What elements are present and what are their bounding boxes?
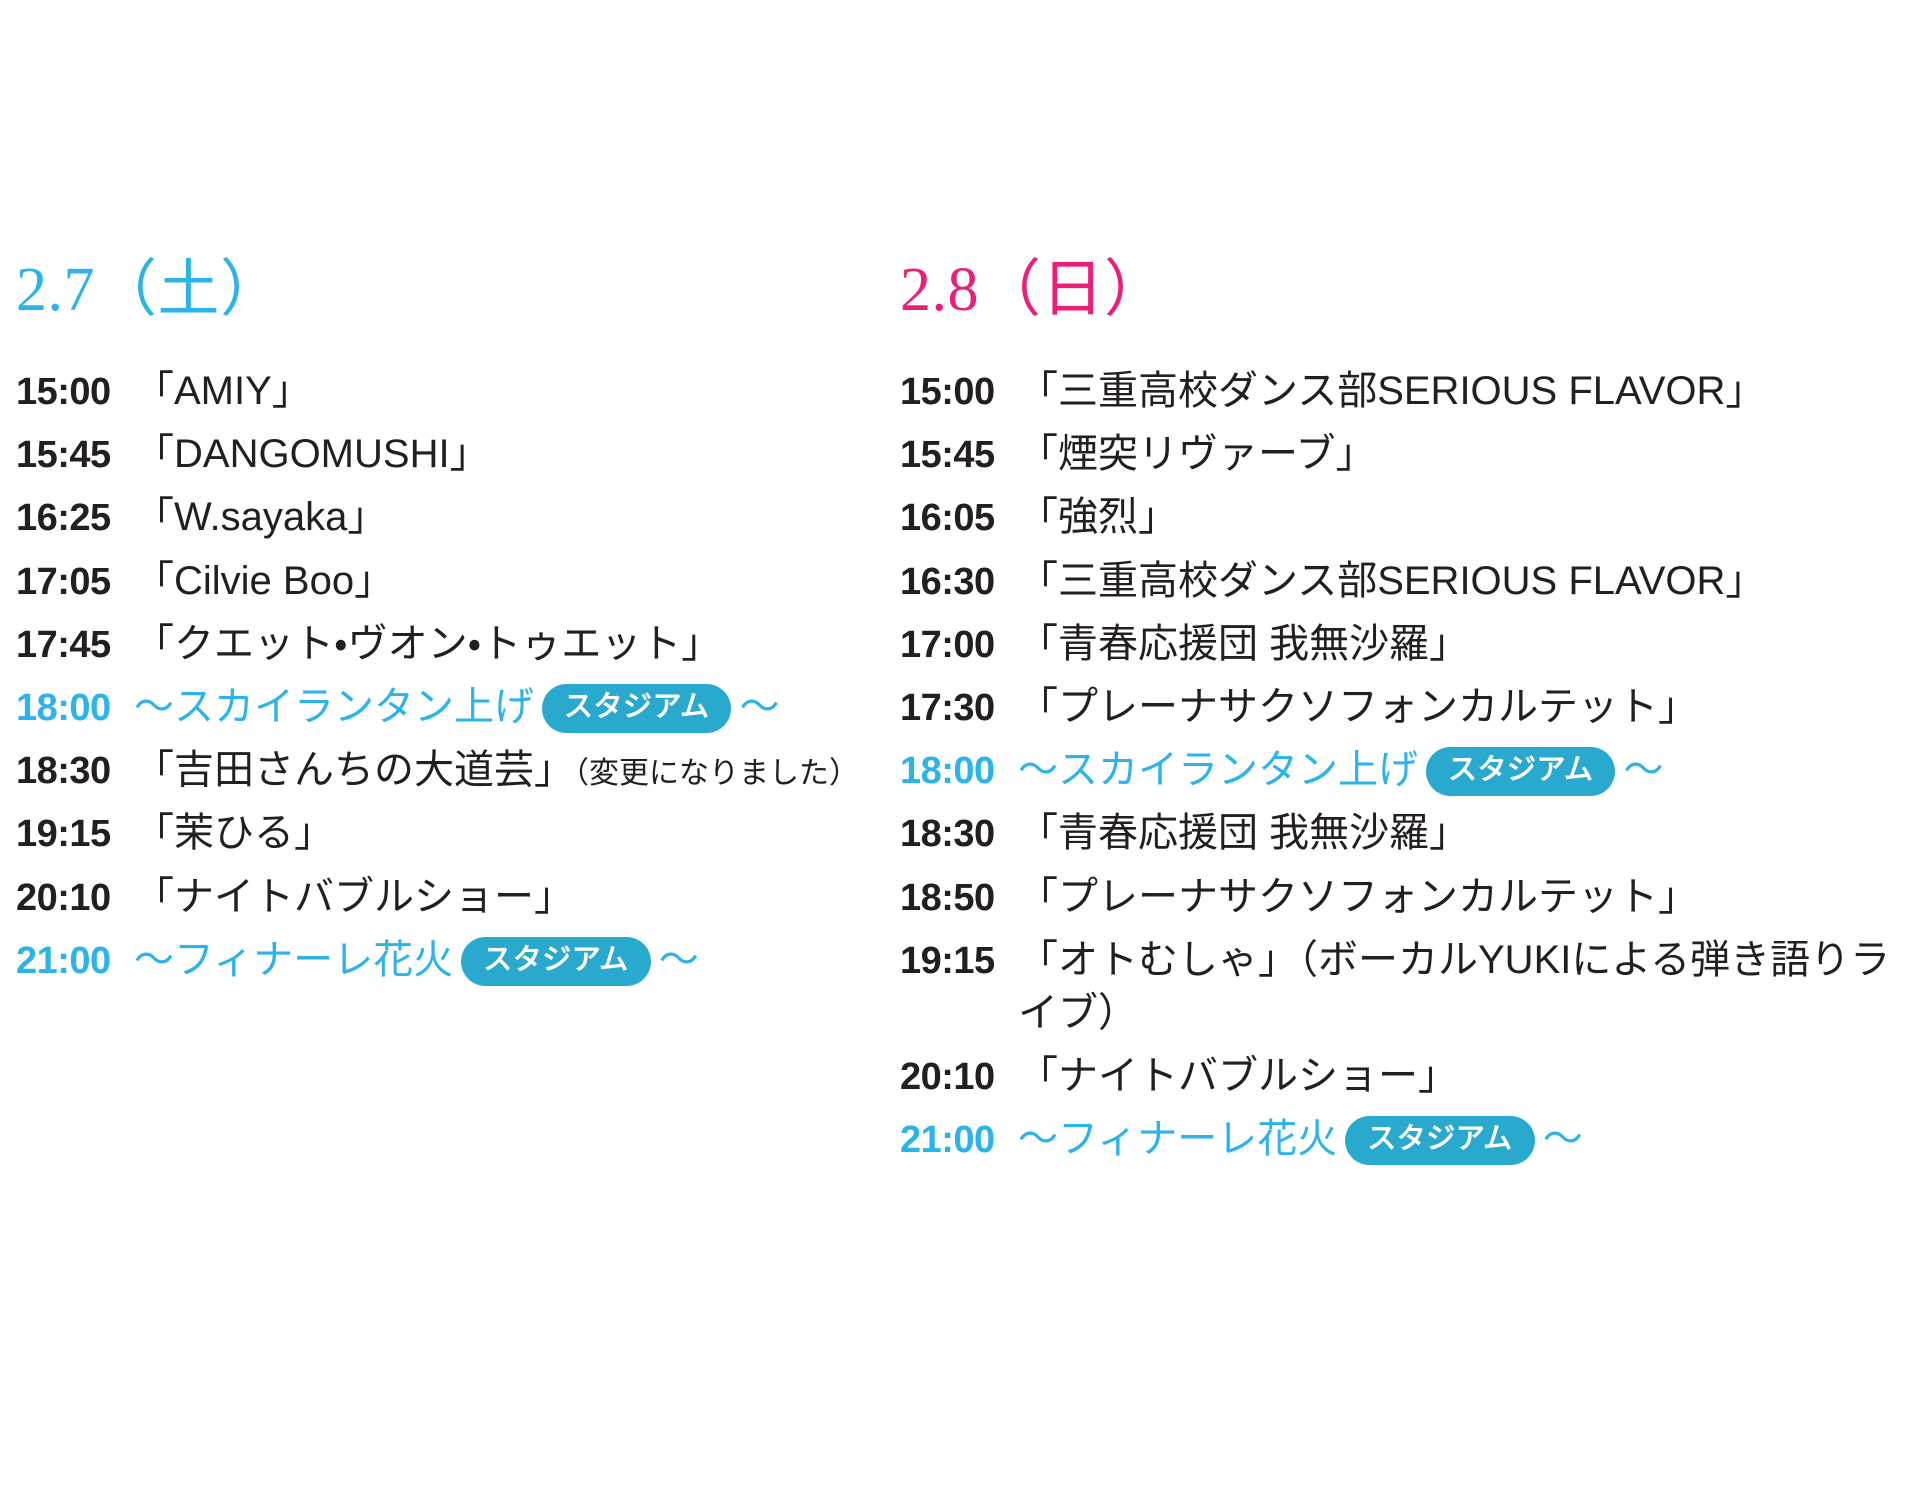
row-time: 18:00 <box>16 683 134 734</box>
timetable-page: 2.7（土） 15:00「AMIY」15:45「DANGOMUSHI」16:25… <box>0 0 1920 1511</box>
row-time: 15:00 <box>16 367 134 418</box>
venue-badge: スタジアム <box>542 684 731 733</box>
row-time: 21:00 <box>900 1115 1018 1166</box>
row-title: 「AMIY」 <box>134 369 312 413</box>
row-time: 18:30 <box>900 809 1018 860</box>
row-body: 「茉ひる」 <box>134 807 900 860</box>
row-body: 〜フィナーレ花火スタジアム〜 <box>1018 1113 1920 1166</box>
schedule-row: 18:30「青春応援団 我無沙羅」 <box>900 807 1920 860</box>
schedule-row: 15:00「AMIY」 <box>16 365 900 418</box>
row-title: 「茉ひる」 <box>134 811 334 855</box>
row-time: 21:00 <box>16 936 134 987</box>
schedule-row: 19:15「オトむしゃ」（ボーカルYUKIによる弾き語りライブ） <box>900 934 1920 1040</box>
schedule-row: 16:05「強烈」 <box>900 491 1920 544</box>
schedule-row: 18:30「吉田さんちの大道芸」（変更になりました） <box>16 744 900 797</box>
row-body: 〜フィナーレ花火スタジアム〜 <box>134 934 900 987</box>
row-body: 「青春応援団 我無沙羅」 <box>1018 618 1920 671</box>
schedule-row: 15:00「三重高校ダンス部SERIOUS FLAVOR」 <box>900 365 1920 418</box>
row-body: 「クエット・ヴオン・トゥエット」 <box>134 618 900 671</box>
row-suffix-tilde: 〜 <box>1543 1117 1583 1161</box>
row-title: 「クエット・ヴオン・トゥエット」 <box>134 622 721 666</box>
row-time: 16:25 <box>16 493 134 544</box>
row-body: 「三重高校ダンス部SERIOUS FLAVOR」 <box>1018 555 1920 608</box>
row-time: 16:05 <box>900 493 1018 544</box>
row-time: 16:30 <box>900 557 1018 608</box>
row-note: （変更になりました） <box>574 757 859 790</box>
row-title: 〜スカイランタン上げ <box>134 685 534 729</box>
schedule-row: 17:05「Cilvie Boo」 <box>16 555 900 608</box>
schedule-list-saturday: 15:00「AMIY」15:45「DANGOMUSHI」16:25「W.saya… <box>16 365 900 987</box>
row-title: 「オトむしゃ」（ボーカルYUKIによる弾き語りライブ） <box>1018 938 1890 1035</box>
row-title: 「三重高校ダンス部SERIOUS FLAVOR」 <box>1018 559 1765 603</box>
row-time: 15:45 <box>900 430 1018 481</box>
row-title: 「Cilvie Boo」 <box>134 559 394 603</box>
row-body: 「W.sayaka」 <box>134 491 900 544</box>
row-title: 「プレーナサクソフォンカルテット」 <box>1018 875 1698 919</box>
row-body: 「ナイトバブルショー」 <box>134 871 900 924</box>
row-title: 〜スカイランタン上げ <box>1018 748 1418 792</box>
schedule-row: 15:45「煙突リヴァーブ」 <box>900 428 1920 481</box>
row-title: 〜フィナーレ花火 <box>134 938 453 982</box>
schedule-row: 21:00〜フィナーレ花火スタジアム〜 <box>16 934 900 987</box>
schedule-row: 17:00「青春応援団 我無沙羅」 <box>900 618 1920 671</box>
row-time: 15:00 <box>900 367 1018 418</box>
schedule-row: 16:25「W.sayaka」 <box>16 491 900 544</box>
row-title: 「ナイトバブルショー」 <box>134 875 574 919</box>
row-time: 20:10 <box>16 873 134 924</box>
row-body: 「三重高校ダンス部SERIOUS FLAVOR」 <box>1018 365 1920 418</box>
schedule-list-sunday: 15:00「三重高校ダンス部SERIOUS FLAVOR」15:45「煙突リヴァ… <box>900 365 1920 1166</box>
row-body: 「青春応援団 我無沙羅」 <box>1018 807 1920 860</box>
row-title: 「吉田さんちの大道芸」 <box>134 748 574 792</box>
row-title: 「煙突リヴァーブ」 <box>1018 432 1376 476</box>
row-title: 「青春応援団 我無沙羅」 <box>1018 622 1469 666</box>
schedule-row: 20:10「ナイトバブルショー」 <box>900 1050 1920 1103</box>
schedule-row: 19:15「茉ひる」 <box>16 807 900 860</box>
row-body: 「プレーナサクソフォンカルテット」 <box>1018 681 1920 734</box>
row-suffix-tilde: 〜 <box>1623 748 1663 792</box>
row-title: 「W.sayaka」 <box>134 495 387 539</box>
row-body: 「吉田さんちの大道芸」（変更になりました） <box>134 744 900 797</box>
row-time: 15:45 <box>16 430 134 481</box>
venue-badge: スタジアム <box>461 937 650 986</box>
row-title: 「三重高校ダンス部SERIOUS FLAVOR」 <box>1018 369 1765 413</box>
day-column-saturday: 2.7（土） 15:00「AMIY」15:45「DANGOMUSHI」16:25… <box>0 0 900 997</box>
row-time: 17:45 <box>16 620 134 671</box>
row-body: 「Cilvie Boo」 <box>134 555 900 608</box>
row-title: 〜フィナーレ花火 <box>1018 1117 1337 1161</box>
row-time: 17:05 <box>16 557 134 608</box>
schedule-row: 18:00〜スカイランタン上げスタジアム〜 <box>16 681 900 734</box>
schedule-row: 15:45「DANGOMUSHI」 <box>16 428 900 481</box>
schedule-row: 17:30「プレーナサクソフォンカルテット」 <box>900 681 1920 734</box>
venue-badge: スタジアム <box>1426 747 1615 796</box>
row-title: 「青春応援団 我無沙羅」 <box>1018 811 1469 855</box>
row-time: 19:15 <box>16 809 134 860</box>
row-body: 「強烈」 <box>1018 491 1920 544</box>
row-body: 「AMIY」 <box>134 365 900 418</box>
venue-badge: スタジアム <box>1345 1116 1534 1165</box>
row-body: 「DANGOMUSHI」 <box>134 428 900 481</box>
schedule-row: 17:45「クエット・ヴオン・トゥエット」 <box>16 618 900 671</box>
schedule-row: 20:10「ナイトバブルショー」 <box>16 871 900 924</box>
row-time: 17:30 <box>900 683 1018 734</box>
day-heading-sunday: 2.8（日） <box>900 258 1920 323</box>
row-body: 「オトむしゃ」（ボーカルYUKIによる弾き語りライブ） <box>1018 934 1920 1040</box>
schedule-row: 21:00〜フィナーレ花火スタジアム〜 <box>900 1113 1920 1166</box>
row-title: 「強烈」 <box>1018 495 1178 539</box>
day-column-sunday: 2.8（日） 15:00「三重高校ダンス部SERIOUS FLAVOR」15:4… <box>900 0 1920 1177</box>
row-title: 「DANGOMUSHI」 <box>134 432 490 476</box>
row-time: 17:00 <box>900 620 1018 671</box>
schedule-row: 16:30「三重高校ダンス部SERIOUS FLAVOR」 <box>900 555 1920 608</box>
row-title: 「プレーナサクソフォンカルテット」 <box>1018 685 1698 729</box>
row-body: 「煙突リヴァーブ」 <box>1018 428 1920 481</box>
row-suffix-tilde: 〜 <box>739 685 779 729</box>
row-body: 「プレーナサクソフォンカルテット」 <box>1018 871 1920 924</box>
row-body: 「ナイトバブルショー」 <box>1018 1050 1920 1103</box>
row-time: 18:30 <box>16 746 134 797</box>
row-time: 18:00 <box>900 746 1018 797</box>
row-body: 〜スカイランタン上げスタジアム〜 <box>134 681 900 734</box>
row-time: 19:15 <box>900 936 1018 987</box>
schedule-row: 18:00〜スカイランタン上げスタジアム〜 <box>900 744 1920 797</box>
row-title: 「ナイトバブルショー」 <box>1018 1054 1458 1098</box>
row-suffix-tilde: 〜 <box>659 938 699 982</box>
row-time: 18:50 <box>900 873 1018 924</box>
row-time: 20:10 <box>900 1052 1018 1103</box>
schedule-row: 18:50「プレーナサクソフォンカルテット」 <box>900 871 1920 924</box>
row-body: 〜スカイランタン上げスタジアム〜 <box>1018 744 1920 797</box>
day-columns: 2.7（土） 15:00「AMIY」15:45「DANGOMUSHI」16:25… <box>0 0 1920 1177</box>
day-heading-saturday: 2.7（土） <box>16 258 900 323</box>
